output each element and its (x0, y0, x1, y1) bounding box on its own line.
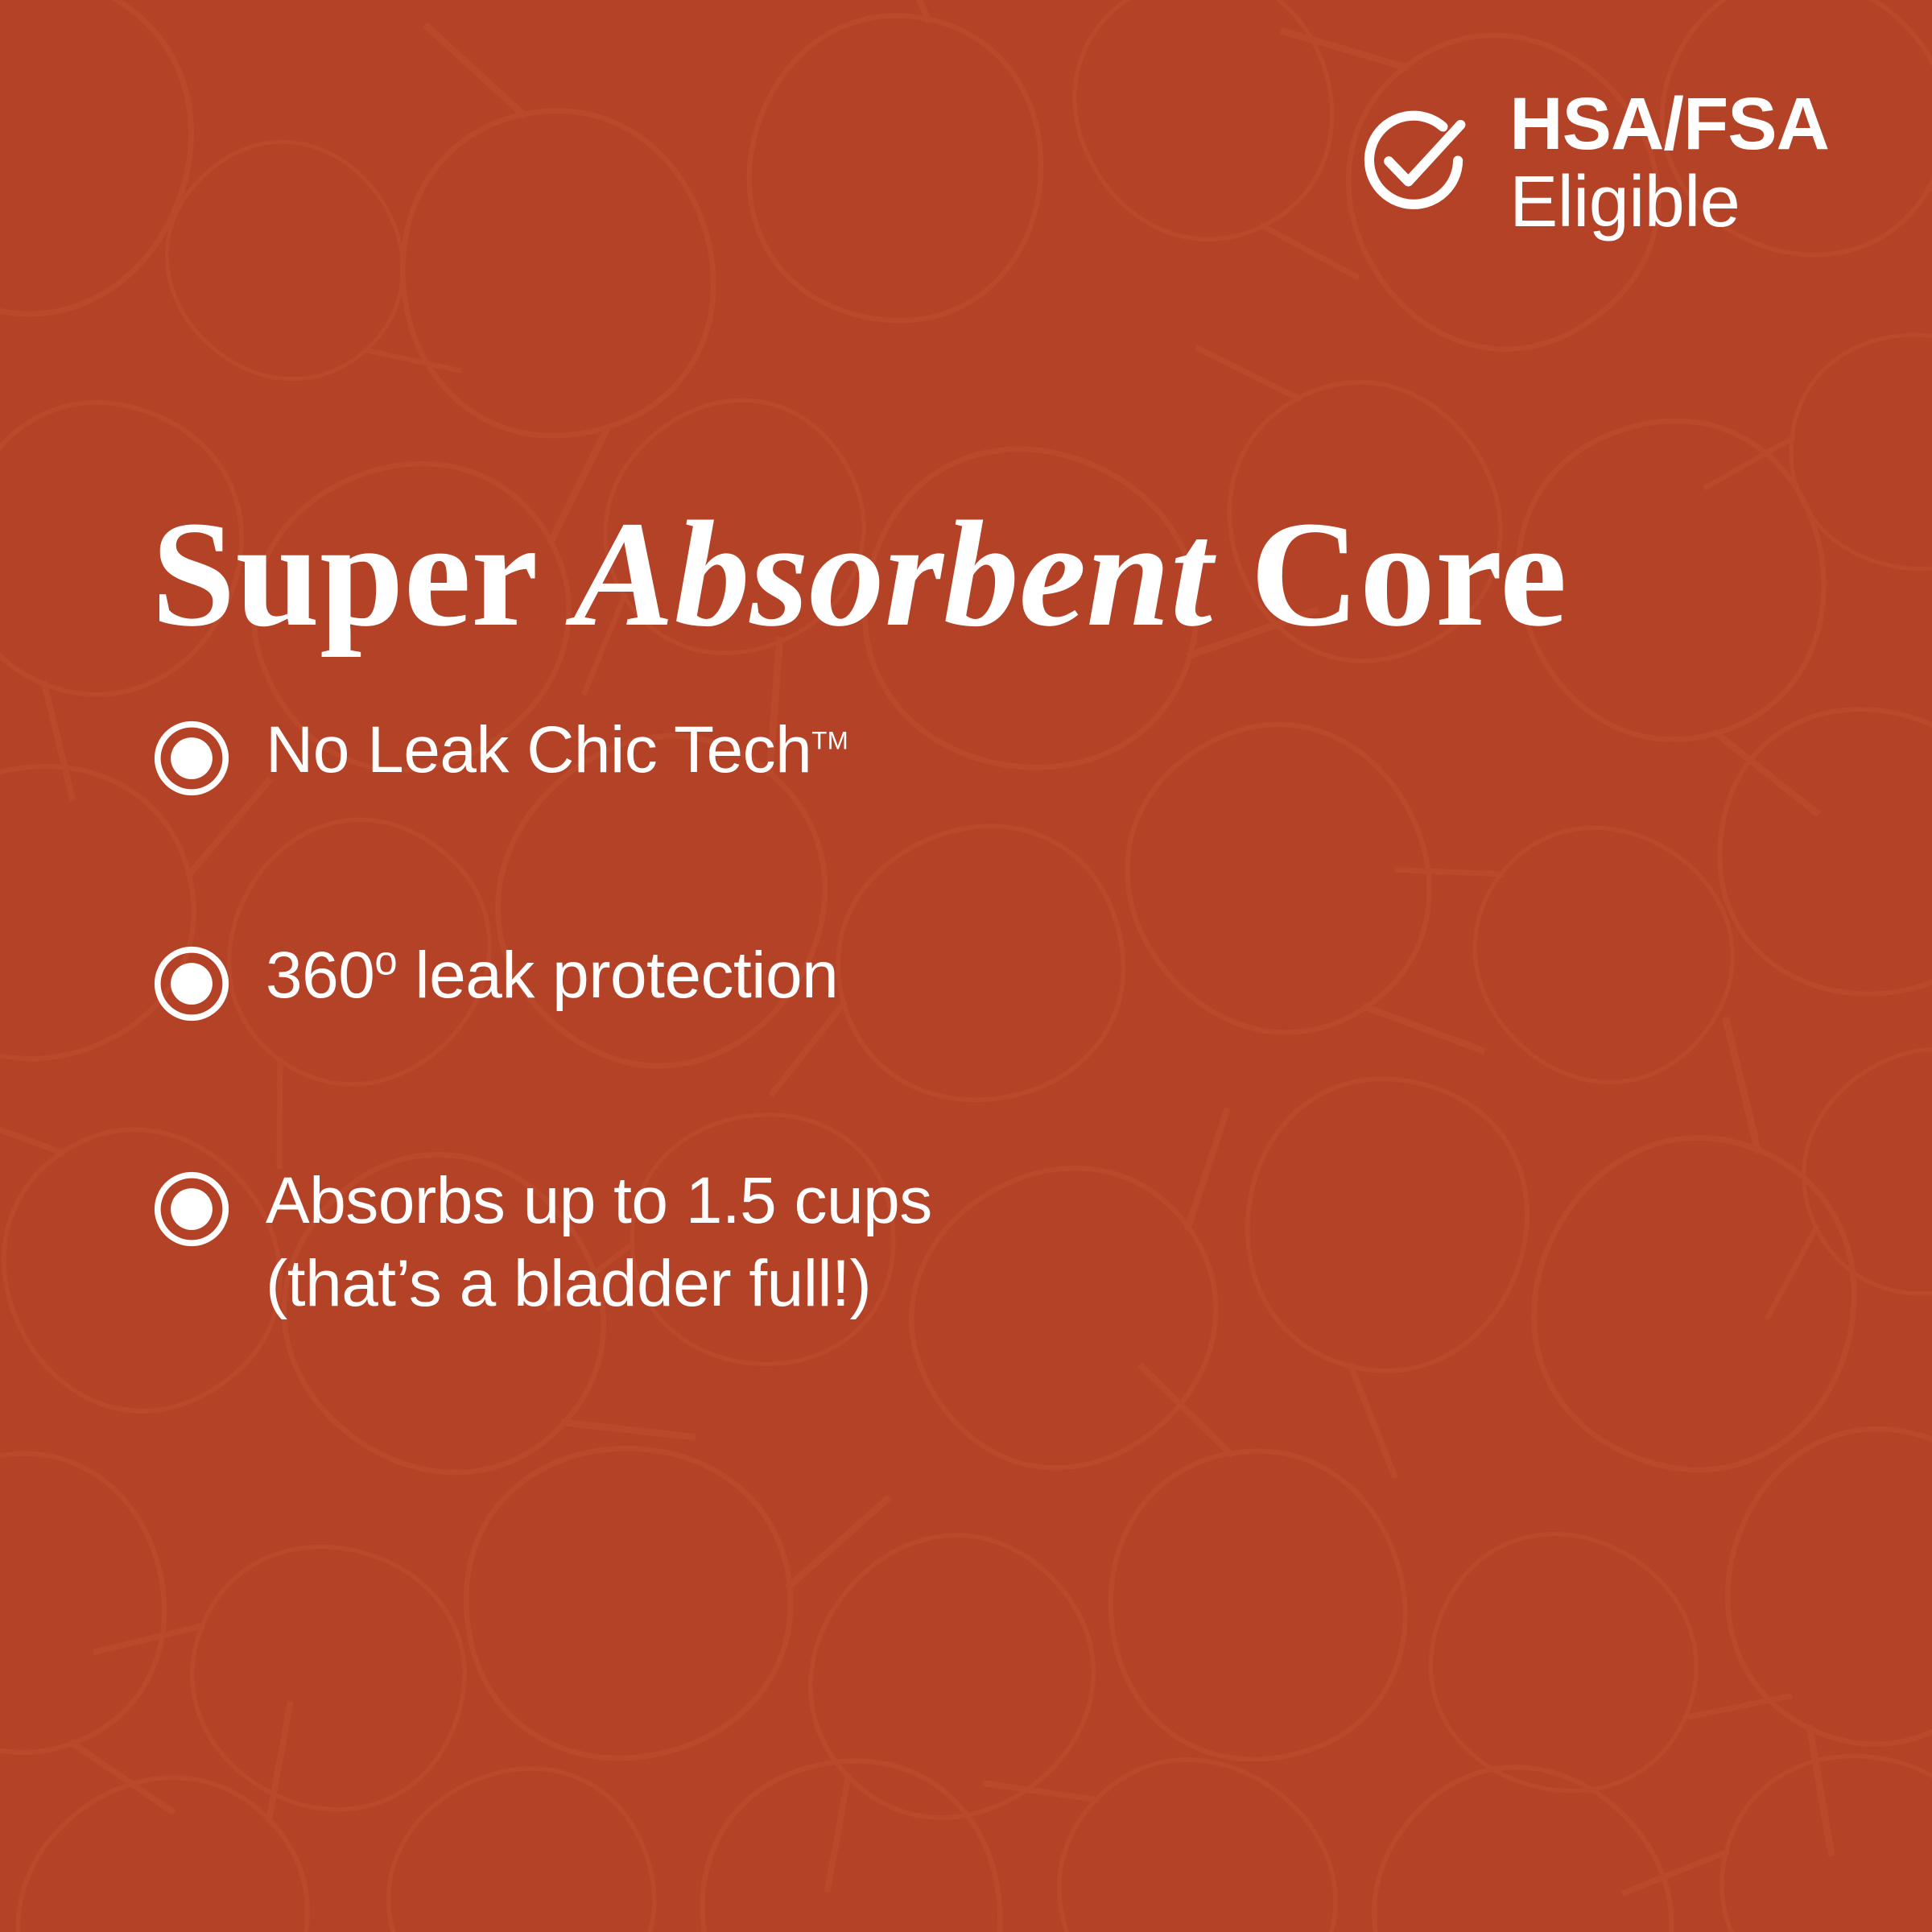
circle-check-icon (1348, 97, 1479, 228)
hsa-fsa-badge-text: HSA/FSA Eligible (1509, 87, 1829, 238)
eligible-label: Eligible (1509, 166, 1829, 238)
list-item: No Leak Chic TechTM (153, 708, 1682, 797)
title-part-2-italic: Absorbent (573, 489, 1212, 658)
feature-list: No Leak Chic TechTM 360o leak protection… (153, 708, 1682, 1326)
trademark-symbol: TM (811, 727, 848, 755)
title-part-3: Core (1212, 489, 1567, 658)
feature-text: 360o leak protection (266, 934, 838, 1017)
feature-label: Absorbs up to 1.5 cups (266, 1164, 932, 1237)
feature-label-number: 360 (266, 939, 374, 1012)
hsa-fsa-label: HSA/FSA (1509, 87, 1829, 161)
title-part-1: Super (151, 489, 573, 658)
feature-label-secondary: (that’s a bladder full!) (266, 1242, 932, 1325)
promo-card: HSA/FSA Eligible Super Absorbent Core No… (0, 0, 1932, 1932)
radio-filled-icon (153, 720, 230, 797)
page-title: Super Absorbent Core (151, 494, 1802, 653)
feature-label: No Leak Chic Tech (266, 713, 811, 786)
list-item: 360o leak protection (153, 934, 1682, 1022)
radio-filled-icon (153, 945, 230, 1022)
hsa-fsa-badge: HSA/FSA Eligible (1348, 87, 1829, 238)
radio-filled-icon (153, 1170, 230, 1248)
degree-symbol: o (374, 938, 397, 984)
feature-label: leak protection (397, 939, 838, 1012)
list-item: Absorbs up to 1.5 cups(that’s a bladder … (153, 1159, 1682, 1326)
feature-text: Absorbs up to 1.5 cups(that’s a bladder … (266, 1159, 932, 1326)
feature-text: No Leak Chic TechTM (266, 708, 848, 791)
